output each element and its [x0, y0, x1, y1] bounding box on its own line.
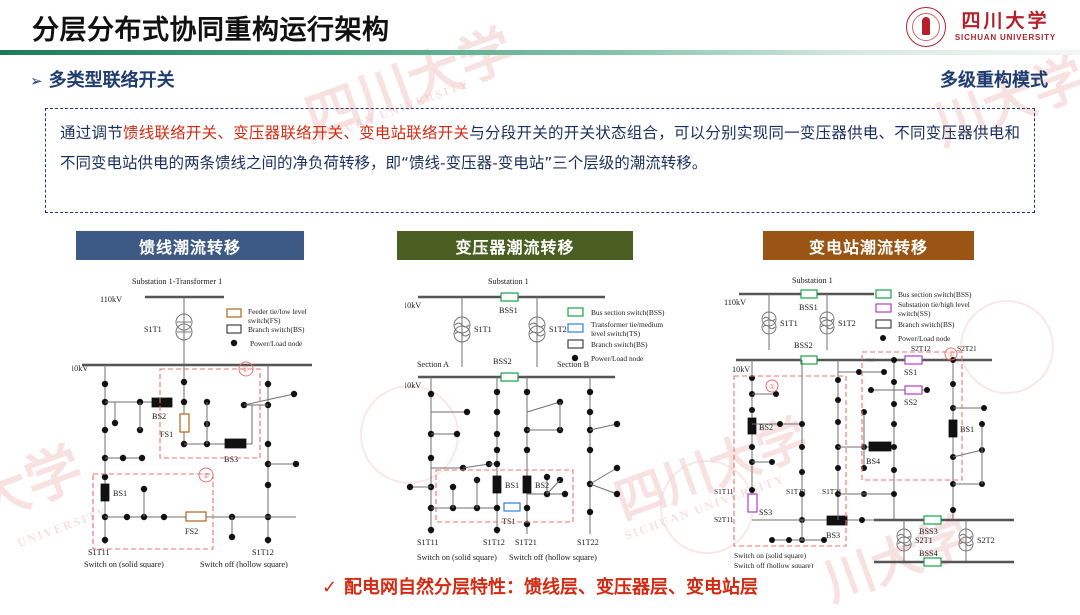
d3-legend-1-text2: switch(SS) [898, 309, 931, 318]
sichuan-university-seal-icon [906, 7, 946, 47]
d2-bus-switch-BSS2: BSS2 [493, 357, 512, 366]
d3-transformer-S1T2: S1T2 [838, 319, 856, 328]
d3-switch-SS3: SS3 [759, 508, 772, 517]
description-text: 通过调节馈线联络开关、变压器联络开关、变电站联络开关与分段开关的开关状态组合，可… [60, 118, 1020, 178]
d2-transformer-S1T1: S1T1 [474, 325, 492, 334]
d2-legend-3-text: Power/Load node [591, 354, 644, 363]
d2-caption-on: Switch on (solid square) [417, 553, 497, 562]
d3-bus-switch-BSS1: BSS1 [799, 303, 818, 312]
d3-transformer-S2T2: S2T2 [977, 536, 995, 545]
d1-switch-BS2: BS2 [152, 412, 166, 421]
d2-section-b: Section B [557, 360, 590, 369]
d1-switch-BS3: BS3 [224, 455, 238, 464]
d3-voltage-low: 10kV [732, 365, 750, 374]
d1-legend-2-text: Power/Load node [250, 339, 303, 348]
d1-marker-2: ② [203, 472, 209, 480]
d1-caption-off: Switch off (hollow square) [200, 560, 288, 568]
section-header-feeder: 馈线潮流转移 [76, 231, 304, 260]
university-logo: 四川大学 SICHUAN UNIVERSITY [906, 7, 1056, 47]
d3-feeder-S1T21: S1T21 [822, 487, 842, 496]
d3-marker-1: ① [769, 383, 775, 391]
diagram-substation-transfer: Substation 1 110kV BSS1 S1T1 S1T2 Bus se… [714, 272, 1080, 568]
d2-feeder-S1T22: S1T22 [577, 538, 599, 547]
d2-feeder-S1T11: S1T11 [417, 538, 439, 547]
conclusion-text: 配电网自然分层特性：馈线层、变压器层、变电站层 [344, 577, 758, 598]
d3-feeder-S1T12: S1T12 [786, 487, 806, 496]
d2-legend-1-text2: level switch(TS) [591, 329, 641, 338]
section-header-substation: 变电站潮流转移 [763, 231, 974, 260]
arrow-bullet-icon: ➢ [30, 72, 43, 90]
d1-switch-FS2: FS2 [185, 527, 198, 536]
page-title: 分层分布式协同重构运行架构 [32, 8, 390, 47]
d3-switch-SS1: SS1 [904, 368, 917, 377]
d3-caption-off: Switch off (hollow square) [734, 561, 814, 568]
d3-feeder-S2T11: S2T11 [714, 515, 734, 524]
logo-text: 四川大学 SICHUAN UNIVERSITY [955, 12, 1056, 42]
d1-switch-BS1: BS1 [113, 489, 127, 498]
title-divider [0, 50, 1080, 55]
description-box: 通过调节馈线联络开关、变压器联络开关、变电站联络开关与分段开关的开关状态组合，可… [45, 108, 1035, 213]
d3-bus-switch-BSS2: BSS2 [794, 341, 813, 350]
d1-switch-FS1: FS1 [160, 430, 173, 439]
d2-transformer-S1T2: S1T2 [549, 325, 567, 334]
d2-legend-1-text: Transformer tie/medium [591, 320, 663, 329]
d2-top-title: Substation 1 [488, 277, 529, 286]
d3-marker-2: ② [948, 351, 954, 359]
d2-legend-2-text: Branch switch(BS) [591, 340, 648, 349]
d1-legend-0-text: Feeder tie/low level [248, 307, 307, 316]
d3-switch-BS3: BS3 [826, 531, 840, 540]
d2-feeder-S1T12: S1T12 [483, 538, 505, 547]
d1-voltage-high: 110kV [100, 295, 122, 304]
d1-caption-on: Switch on (solid square) [84, 560, 164, 568]
subheading-right: 多级重构模式 [940, 66, 1048, 92]
d3-bus-switch-BSS4: BSS4 [919, 549, 938, 558]
d2-switch-BS1: BS1 [505, 481, 519, 490]
d3-transformer-S1T1: S1T1 [780, 319, 798, 328]
diagram-feeder-transfer: Substation 1-Transformer 1 110kV S1T1 Fe… [72, 272, 402, 568]
subheading-left: ➢多类型联络开关 [30, 66, 175, 92]
d1-marker-1: ① [242, 366, 248, 374]
d3-switch-BS4: BS4 [866, 457, 880, 466]
d3-legend-3-text: Power/Load node [898, 334, 951, 343]
description-segment-1: 馈线联络开关、变压器联络开关、变电站联络开关 [123, 124, 469, 142]
d3-caption-on: Switch on (solid square) [734, 551, 807, 560]
d3-legend-0-text: Bus section switch(BSS) [898, 290, 972, 299]
subheading-left-label: 多类型联络开关 [49, 70, 175, 91]
d3-voltage-high: 110kV [724, 298, 746, 307]
d3-feeder-S1T11: S1T11 [714, 487, 734, 496]
d1-feeder-S1T11: S1T11 [88, 548, 110, 557]
d2-caption-off: Switch off (hollow square) [509, 553, 597, 562]
d2-bus-switch-BSS1: BSS1 [499, 306, 518, 315]
d3-switch-SS2: SS2 [904, 398, 917, 407]
d2-voltage-bus2: 10kV [405, 381, 421, 390]
d3-bus-switch-BSS3: BSS3 [919, 527, 938, 536]
d1-top-title: Substation 1-Transformer 1 [132, 277, 222, 286]
logo-name-cn: 四川大学 [961, 12, 1049, 31]
d1-legend-0-text2: switch(FS) [248, 316, 281, 325]
check-icon: ✓ [322, 577, 337, 598]
conclusion-line: ✓配电网自然分层特性：馈线层、变压器层、变电站层 [0, 573, 1080, 599]
d3-legend-1-text: Substation tie/high level [898, 300, 970, 309]
d3-legend-2-text: Branch switch(BS) [898, 320, 955, 329]
d3-transformer-S2T1: S2T1 [915, 536, 933, 545]
d1-transformer-label: S1T1 [144, 325, 162, 334]
title-bar: 分层分布式协同重构运行架构 四川大学 SICHUAN UNIVERSITY [0, 0, 1080, 50]
logo-name-en: SICHUAN UNIVERSITY [955, 34, 1056, 42]
diagram-transformer-transfer: Substation 1 10kV BSS1 S1T1 S1T2 Bus sec… [405, 272, 720, 568]
d2-voltage-bus1: 10kV [405, 301, 421, 310]
d1-legend-1-text: Branch switch(BS) [248, 325, 305, 334]
d2-legend-0-text: Bus section switch(BSS) [591, 308, 665, 317]
d1-feeder-S1T12: S1T12 [252, 548, 274, 557]
section-header-transformer: 变压器潮流转移 [397, 231, 633, 260]
description-segment-0: 通过调节 [60, 124, 123, 142]
d2-section-a: Section A [417, 360, 449, 369]
d2-feeder-S1T21: S1T21 [515, 538, 537, 547]
d3-top-title: Substation 1 [792, 276, 833, 285]
